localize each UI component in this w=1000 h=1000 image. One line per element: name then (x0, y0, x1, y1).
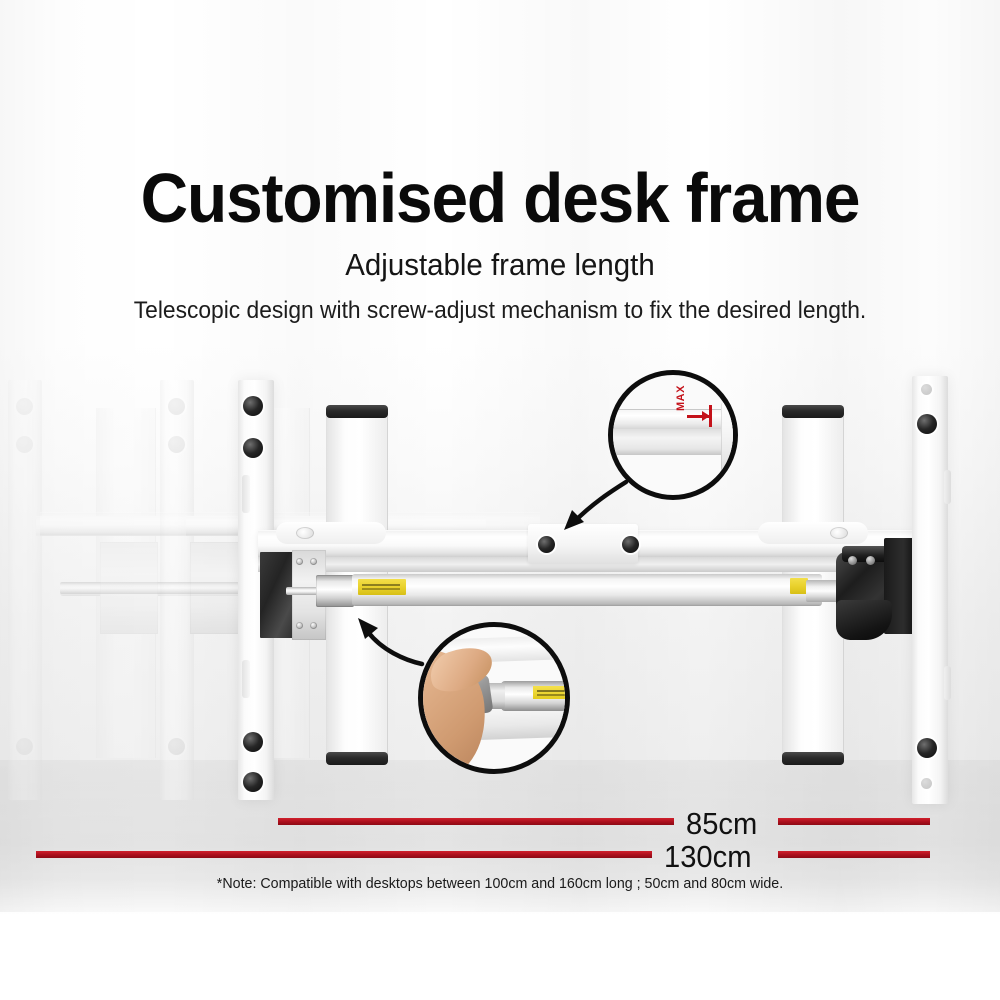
telescopic-tube (352, 574, 822, 606)
curved-arrow-up-left-icon (348, 612, 428, 672)
measure-label-85: 85cm (686, 808, 757, 839)
max-arrow-icon (687, 415, 709, 418)
foot-cap (782, 752, 844, 765)
measure-label-130: 130cm (664, 841, 751, 872)
leg-bolt (243, 772, 263, 792)
page-title: Customised desk frame (30, 163, 970, 233)
leg-bolt (243, 438, 263, 458)
hex-coupler (316, 575, 354, 607)
measure-bar-85-left (278, 818, 674, 825)
caution-label-zoom (533, 686, 570, 699)
measure-bar-85-right (778, 818, 930, 825)
telescopic-bracket (260, 552, 294, 638)
product-marketing-image: Customised desk frame Adjustable frame l… (0, 0, 1000, 1000)
caution-label (358, 579, 406, 595)
foot-cap (326, 752, 388, 765)
callout-screw-adjust (418, 622, 570, 774)
leg-bolt (243, 732, 263, 752)
foot-cap (326, 405, 388, 418)
max-marking-label: MAX (675, 385, 687, 411)
leg-bolt (243, 396, 263, 416)
leg-bolt (917, 738, 937, 758)
measure-bar-130-right (778, 851, 930, 858)
body-description: Telescopic design with screw-adjust mech… (25, 299, 975, 323)
beam-bolt (622, 536, 639, 553)
beam-bolt (538, 536, 555, 553)
subtitle: Adjustable frame length (25, 249, 975, 280)
curved-arrow-down-left-icon (540, 478, 630, 538)
compatibility-note: *Note: Compatible with desktops between … (25, 876, 975, 891)
desk-frame-photo: MAX (0, 360, 1000, 810)
foot-cap (782, 405, 844, 418)
measure-bar-130-left (36, 851, 652, 858)
leg-bolt (917, 414, 937, 434)
